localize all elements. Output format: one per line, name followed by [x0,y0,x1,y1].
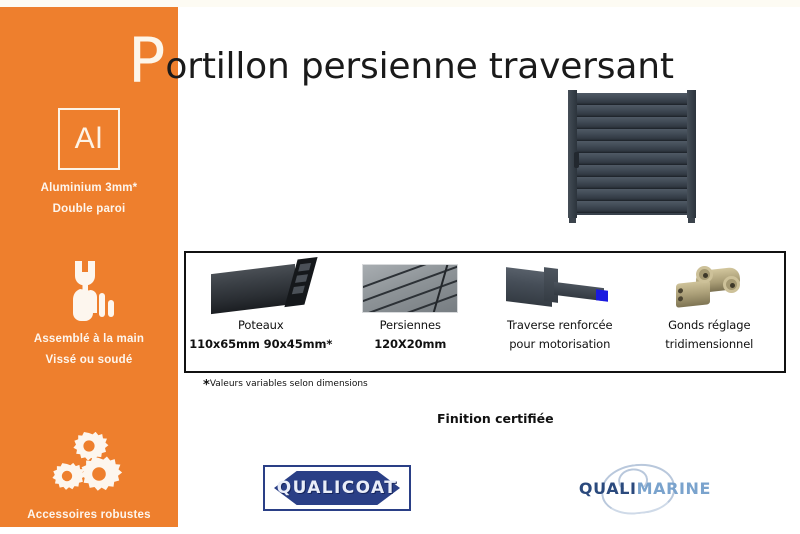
gate-louver [577,129,687,141]
footnote: *Valeurs variables selon dimensions [203,379,368,394]
component-poteaux-label: Poteaux [238,316,284,335]
qualicoat-logo: QUALICOAT [263,465,411,511]
aluminium-symbol-label: Al [58,108,120,170]
gate-louver [577,189,687,201]
feature-aluminium-line1: Aluminium 3mm* [0,178,178,199]
component-persiennes: Persiennes 120X20mm [336,253,486,371]
feature-aluminium-line2: Double paroi [0,199,178,220]
page-title-text: ortillon persienne traversant [165,49,673,85]
feature-aluminium: Al Aluminium 3mm* Double paroi [0,100,178,220]
component-persiennes-spec: 120X20mm [374,335,446,354]
page-title: P ortillon persienne traversant [128,26,674,88]
component-gonds-spec: tridimensionnel [665,335,753,354]
product-sheet-page: Al Aluminium 3mm* Double paroi [0,0,800,534]
component-gonds: Gonds réglage tridimensionnel [635,253,785,371]
component-traverse: Traverse renforcée pour motorisation [485,253,635,371]
gond-hinge-image [635,260,785,316]
traverse-motor-image [485,260,635,316]
component-persiennes-label: Persiennes [380,316,441,335]
footnote-text: Valeurs variables selon dimensions [210,379,368,389]
feature-handmade: Assemblé à la main Vissé ou soudé [0,251,178,371]
qualicoat-logo-text: QUALICOAT [265,467,409,509]
gate-louver [577,153,687,165]
feature-handmade-line2: Vissé ou soudé [0,350,178,371]
gate-louver [577,105,687,117]
gate-handle-icon [574,152,579,168]
qualimarine-text-part1: QUALI [579,479,637,498]
component-traverse-label: Traverse renforcée [507,316,613,335]
feature-handmade-line1: Assemblé à la main [0,329,178,350]
top-cream-strip [0,0,800,7]
aluminium-square-icon: Al [0,100,178,178]
certification-heading: Finition certifiée [437,411,554,426]
gate-louver [577,201,687,213]
component-gonds-label: Gonds réglage [668,316,750,335]
gate-louver-panel [577,93,687,215]
component-poteaux-spec: 110x65mm 90x45mm* [189,335,332,354]
feature-accessories: Accessoires robustes [0,427,178,526]
hand-wrench-icon [0,251,178,329]
qualimarine-text-part2: MARINE [637,479,712,498]
gate-louver [577,165,687,177]
gate-post-right [687,90,696,218]
gate-louver [577,141,687,153]
footnote-asterisk: * [203,378,210,393]
gears-icon [0,427,178,505]
page-title-initial: P [128,30,165,92]
persiennes-image [336,260,486,316]
qualimarine-logo-text: QUALIMARINE [565,479,725,498]
gate-louver [577,177,687,189]
component-traverse-spec: pour motorisation [509,335,610,354]
qualimarine-logo: QUALIMARINE [565,466,725,510]
gate-louver [577,93,687,105]
feature-accessories-line1: Accessoires robustes [0,505,178,526]
component-poteaux: Poteaux 110x65mm 90x45mm* [186,253,336,371]
gate-photo [568,90,696,218]
components-box: Poteaux 110x65mm 90x45mm* Persiennes 120… [184,251,786,373]
gate-louver [577,117,687,129]
poteau-profile-image [186,260,336,316]
